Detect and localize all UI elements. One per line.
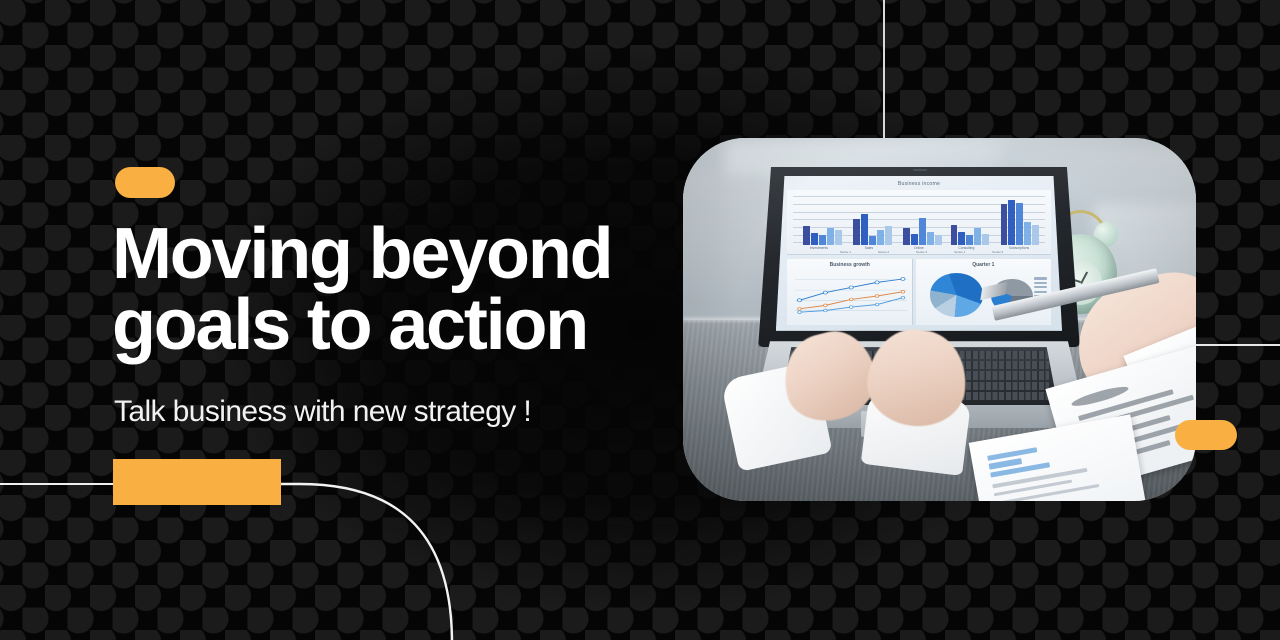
bar — [1001, 204, 1008, 245]
laptop-lid: Business income — [758, 167, 1080, 347]
bar — [803, 226, 810, 245]
legend-item: Series 2 — [878, 250, 889, 254]
legend-item: Series 3 — [916, 250, 927, 254]
webcam-icon — [913, 169, 928, 171]
bar — [819, 235, 826, 245]
page-title: Moving beyond goals to action — [112, 219, 712, 360]
page-subtitle: Talk business with new strategy ! — [114, 395, 531, 429]
pie-chart-title: Quarter 1 — [916, 262, 1051, 268]
pie-chart-primary — [930, 273, 984, 317]
bar — [982, 234, 989, 246]
line-chart-plot — [795, 273, 907, 316]
bar — [811, 233, 818, 245]
line-chart: Business growth — [787, 259, 913, 326]
bar — [877, 230, 884, 245]
bar — [1024, 222, 1031, 245]
laptop: Business income — [750, 167, 1089, 457]
bar — [903, 228, 910, 245]
bar — [935, 235, 942, 245]
bar — [951, 225, 958, 245]
bar — [885, 226, 892, 245]
white-vertical-line — [883, 0, 885, 145]
bar — [1032, 225, 1039, 245]
line-chart-title: Business growth — [787, 262, 912, 268]
dashboard-title: Business income — [776, 181, 1062, 187]
headline-line-2: goals to action — [112, 290, 712, 361]
bar-chart: Investments Sales Online Consulting Subs… — [787, 190, 1050, 255]
banner-canvas: Moving beyond goals to action Talk busin… — [0, 0, 1280, 640]
bar — [974, 228, 981, 245]
bar — [1016, 203, 1023, 245]
bar — [911, 234, 918, 246]
bar — [869, 236, 876, 245]
hero-photo: Business income — [683, 138, 1196, 501]
orange-rectangle-bottom — [113, 459, 281, 505]
bar — [927, 232, 934, 245]
white-curved-line — [280, 483, 460, 640]
bar — [835, 230, 842, 245]
legend-item: Series 1 — [840, 250, 851, 254]
orange-pill-right — [1175, 420, 1237, 450]
headline-line-1: Moving beyond — [112, 219, 712, 290]
legend-item: Series 4 — [954, 250, 965, 254]
bar-chart-legend: Series 1 Series 2 Series 3 Series 4 Seri… — [840, 250, 1003, 254]
bar-group-label: Investments — [798, 246, 840, 250]
bar — [919, 218, 926, 246]
orange-pill-top — [115, 167, 175, 198]
bar — [958, 232, 965, 245]
white-horizontal-line-right — [1185, 344, 1280, 346]
bar — [853, 219, 860, 245]
bar — [861, 214, 868, 245]
bar — [1008, 200, 1015, 245]
bar — [827, 228, 834, 245]
photo-scene: Business income — [683, 138, 1196, 501]
bar — [966, 235, 973, 245]
legend-item: Series 5 — [992, 250, 1003, 254]
